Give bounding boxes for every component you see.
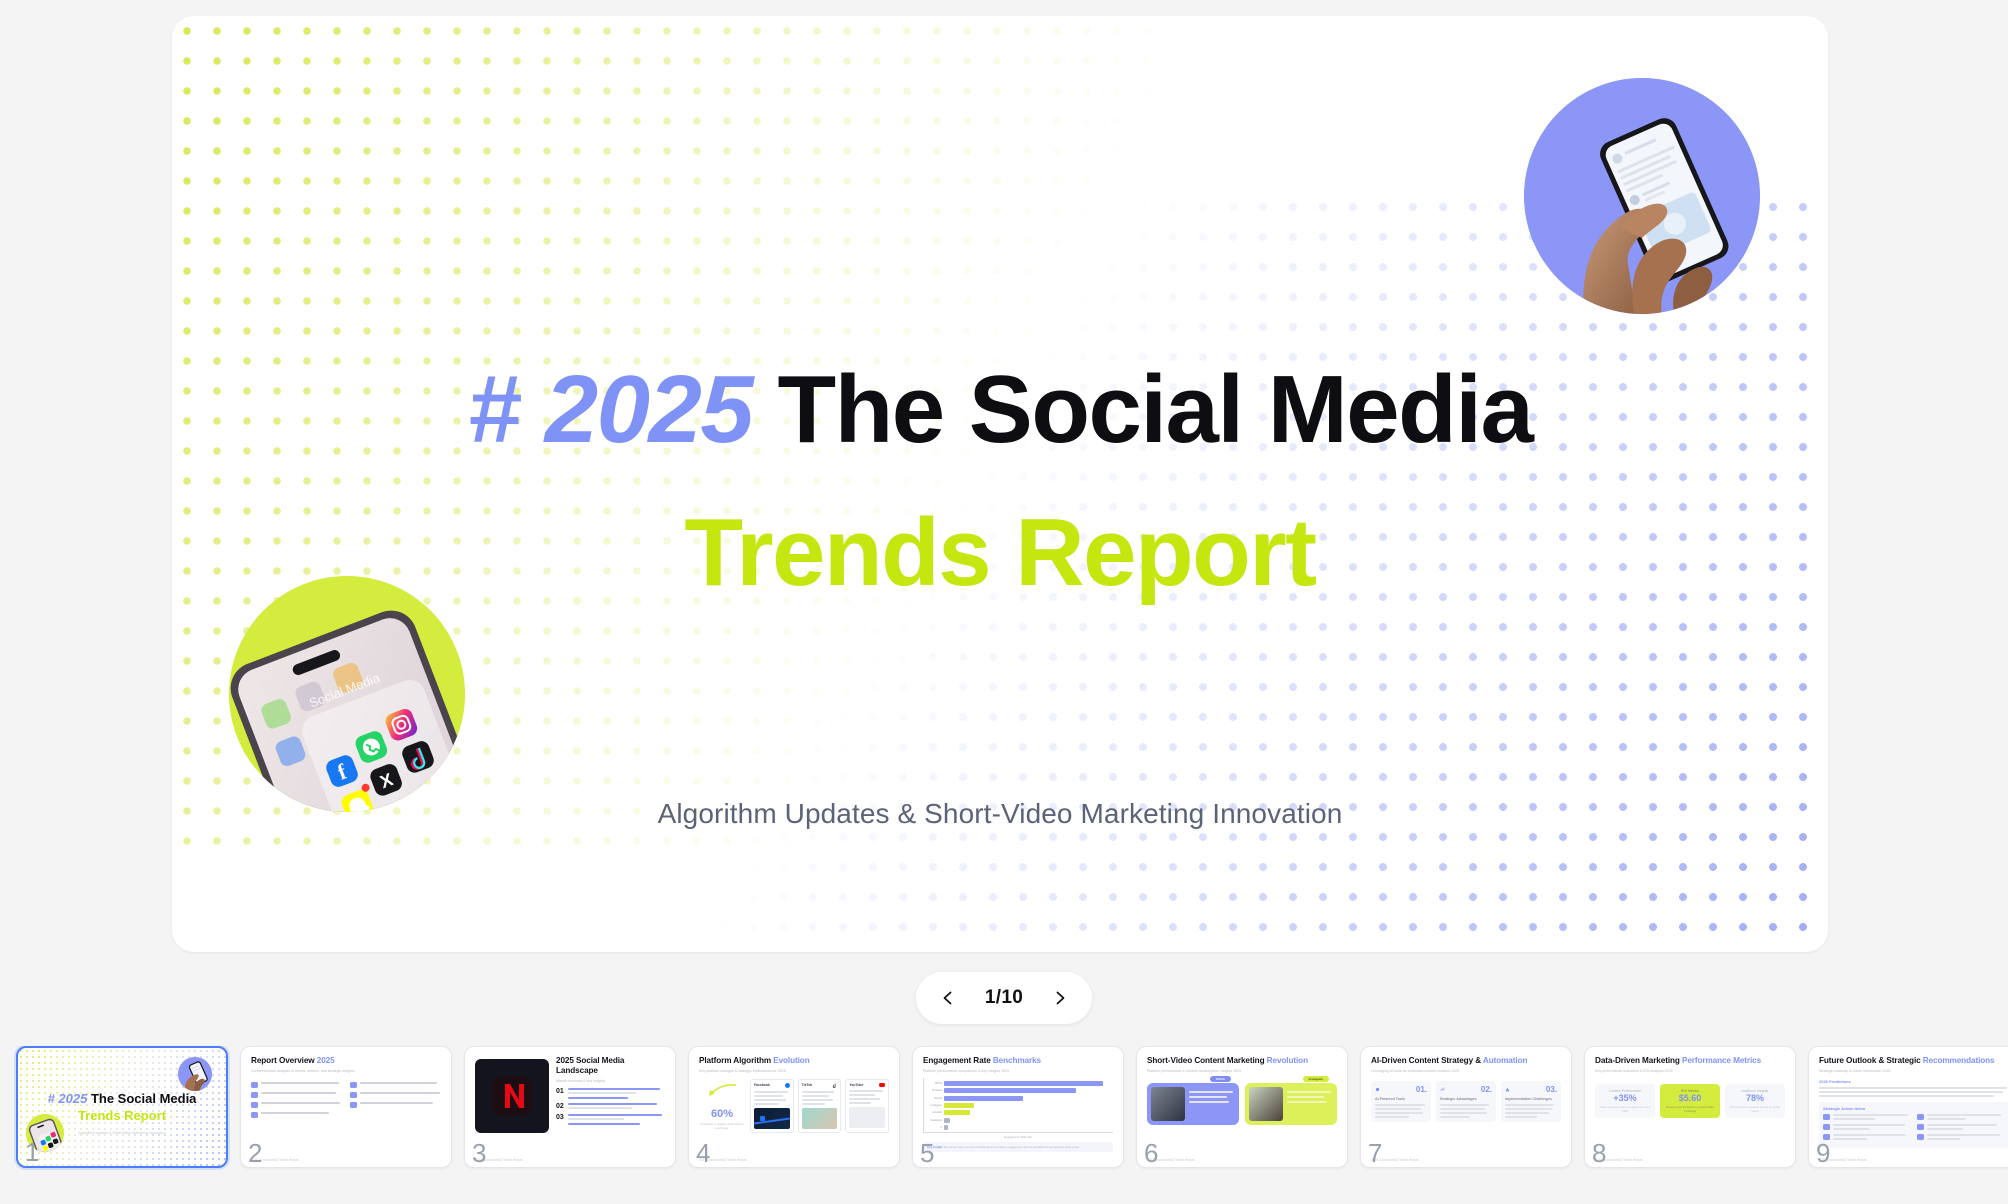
tiktok-panel: TikTok <box>1147 1083 1239 1125</box>
metric-value: +35% <box>1598 1093 1652 1103</box>
ai-card: 03. Implementation Challenges <box>1501 1081 1561 1122</box>
list-item <box>1917 1124 2005 1130</box>
metric-value: 78% <box>1728 1093 1782 1103</box>
thumb8-title-accent: Performance Metrics <box>1682 1056 1761 1065</box>
thumb5-axis-label: Engagement Rate (%) <box>923 1135 1113 1139</box>
bullet-square-icon <box>1823 1114 1830 1120</box>
list-item <box>1917 1114 2005 1120</box>
headline-line-2: Trends Report <box>172 496 1828 609</box>
card-heading: Implementation Challenges <box>1505 1097 1557 1101</box>
metric-card: Audience Insights 78% Of consumers resea… <box>1725 1084 1785 1118</box>
bullet-square-icon <box>350 1092 357 1098</box>
thumbnail-number: 9 <box>1816 1140 1830 1166</box>
thumb3-title: 2025 Social Media <box>556 1056 665 1066</box>
curved-arrow-icon <box>706 1083 738 1099</box>
thumbnail-number: 7 <box>1368 1140 1382 1166</box>
thumb9-content: Future Outlook & Strategic Recommendatio… <box>1809 1047 2008 1167</box>
thumbnail-number: 8 <box>1592 1140 1606 1166</box>
hash-symbol: # <box>468 356 520 463</box>
thumb3-title-plain: 2025 Social Media <box>556 1056 624 1065</box>
thumbnail-number: 5 <box>920 1140 934 1166</box>
platform-card: TikTok <box>798 1079 842 1133</box>
metric-card-highlighted: ROI Metrics $5.60 Revenue per $1 spent o… <box>1660 1084 1720 1118</box>
list-item <box>251 1092 342 1098</box>
hand-phone-icon <box>178 1057 212 1091</box>
thumb1-title-line1: # 2025 The Social Media <box>18 1091 226 1106</box>
metric-card: Content Performance +35% Video content c… <box>1595 1084 1655 1118</box>
thumbnail-strip[interactable]: # 2025 The Social Media Trends Report Al… <box>0 1046 2008 1180</box>
thumb5-title: Engagement Rate Benchmarks <box>923 1056 1113 1066</box>
thumb6-title: Short-Video Content Marketing Revolution <box>1147 1056 1337 1066</box>
thumb4-subtitle: Key platform changes & strategic implica… <box>699 1069 889 1073</box>
list-item <box>350 1102 441 1108</box>
list-item <box>1823 1114 1911 1120</box>
platform-card: Facebook <box>750 1079 794 1133</box>
bullet-square-icon <box>1917 1114 1924 1120</box>
thumb4-title-accent: Evolution <box>773 1056 809 1065</box>
metric-desc: Revenue per $1 spent on social media mar… <box>1663 1105 1717 1113</box>
thumbnail-number: 1 <box>25 1139 39 1165</box>
thumbnail-number: 6 <box>1144 1140 1158 1166</box>
thumbnail-slide-8[interactable]: Data-Driven Marketing Performance Metric… <box>1584 1046 1796 1168</box>
thumbnail-slide-4[interactable]: Platform Algorithm Evolution Key platfor… <box>688 1046 900 1168</box>
thumbnail-number: 4 <box>696 1140 710 1166</box>
instagram-panel: Instagram <box>1245 1083 1337 1125</box>
thumb8-subtitle: Key performance indicators & ROI analysi… <box>1595 1069 1785 1073</box>
list-item <box>251 1102 342 1108</box>
thumbnail-slide-1[interactable]: # 2025 The Social Media Trends Report Al… <box>16 1046 228 1168</box>
thumb5-content: Engagement Rate Benchmarks Platform perf… <box>913 1047 1123 1167</box>
thumb9-subtitle: Strategic roadmap & future introduction … <box>1819 1069 2008 1073</box>
thumb1-hand-phone-circle <box>178 1057 212 1091</box>
thumb6-title-plain: Short-Video Content Marketing <box>1147 1056 1267 1065</box>
thumb9-title: Future Outlook & Strategic Recommendatio… <box>1819 1056 2008 1066</box>
thumb5-note-body: Short-form video content consistently dr… <box>944 1145 1080 1149</box>
slide-pager: 1/10 <box>916 972 1092 1024</box>
bullet-square-icon <box>350 1102 357 1108</box>
thumb8-title-plain: Data-Driven Marketing <box>1595 1056 1682 1065</box>
hand-phone-illustration <box>1524 78 1760 314</box>
thumb7-title-accent: Automation <box>1483 1056 1527 1065</box>
card-number: 03. <box>1546 1085 1557 1094</box>
list-item <box>251 1112 342 1118</box>
youtube-icon <box>879 1083 885 1087</box>
thumb9-section-1: 2026 Predictions <box>1819 1079 2008 1084</box>
thumbnail-slide-7[interactable]: AI-Driven Content Strategy & Automation … <box>1360 1046 1572 1168</box>
thumb2-title: Report Overview 2025 <box>251 1056 441 1066</box>
phone-social-apps-photo: Social Media f X <box>229 576 465 812</box>
step-number: 01 <box>556 1088 564 1099</box>
ai-card: 02. Strategic Advantages <box>1436 1081 1496 1122</box>
warning-triangle-icon <box>1505 1087 1510 1092</box>
bullet-square-icon <box>251 1112 258 1118</box>
tiktok-tag: TikTok <box>1210 1076 1231 1082</box>
thumbnail-slide-3[interactable]: 2025 Social Media Landscape Market overv… <box>464 1046 676 1168</box>
thumb6-title-accent: Revolution <box>1267 1056 1308 1065</box>
platform-name: TikTok <box>802 1083 813 1087</box>
hand-holding-phone-photo <box>1524 78 1760 314</box>
bullet-square-icon <box>1917 1134 1924 1140</box>
thumb5-subtitle: Platform performance comparison & key in… <box>923 1069 1113 1073</box>
thumb2-content: Report Overview 2025 Comprehensive analy… <box>241 1047 451 1167</box>
thumb8-title: Data-Driven Marketing Performance Metric… <box>1595 1056 1785 1066</box>
list-item <box>350 1092 441 1098</box>
netflix-app-image <box>475 1059 549 1133</box>
prev-slide-button[interactable] <box>934 984 962 1012</box>
thumb5-title-plain: Engagement Rate <box>923 1056 993 1065</box>
card-heading: Strategic Advantages <box>1440 1097 1492 1101</box>
headline-line-1: # 2025 The Social Media <box>172 356 1828 464</box>
slide-canvas: Social Media f X <box>172 16 1828 952</box>
chart-icon <box>1440 1087 1445 1092</box>
platform-name: YouTube <box>849 1083 863 1087</box>
next-slide-button[interactable] <box>1046 984 1074 1012</box>
thumb4-stat-caption: Reduction in organic reach without paid … <box>699 1122 745 1131</box>
thumb6-content: Short-Video Content Marketing Revolution… <box>1137 1047 1347 1167</box>
bullet-square-icon <box>251 1092 258 1098</box>
step-number: 03 <box>556 1114 564 1125</box>
thumb9-title-plain: Future Outlook & Strategic <box>1819 1056 1923 1065</box>
bullet-square-icon <box>251 1082 258 1088</box>
thumbnail-slide-5[interactable]: Engagement Rate Benchmarks Platform perf… <box>912 1046 1124 1168</box>
bullet-square-icon <box>350 1082 357 1088</box>
thumbnail-number: 2 <box>248 1140 262 1166</box>
thumbnail-slide-6[interactable]: Short-Video Content Marketing Revolution… <box>1136 1046 1348 1168</box>
slide-subtitle: Algorithm Updates & Short-Video Marketin… <box>172 798 1828 830</box>
card-number: 01. <box>1416 1085 1427 1094</box>
metric-desc: Video content creates engagement over st… <box>1598 1105 1652 1113</box>
thumb4-title-plain: Platform Algorithm <box>699 1056 773 1065</box>
page-indicator: 1/10 <box>985 987 1023 1009</box>
thumbnail-slide-2[interactable]: Report Overview 2025 Comprehensive analy… <box>240 1046 452 1168</box>
card-number: 02. <box>1481 1085 1492 1094</box>
thumb2-title-plain: Report Overview <box>251 1056 317 1065</box>
thumb7-content: AI-Driven Content Strategy & Automation … <box>1361 1047 1571 1167</box>
list-item <box>350 1082 441 1088</box>
thumb1-subtitle: Algorithm Updates & Short-Video Marketin… <box>18 1131 226 1135</box>
card-heading: AI-Powered Tools <box>1375 1097 1427 1101</box>
list-item <box>1823 1134 1911 1140</box>
tiktok-icon <box>832 1083 837 1088</box>
headline-main: The Social Media <box>777 356 1532 463</box>
thumb8-content: Data-Driven Marketing Performance Metric… <box>1585 1047 1795 1167</box>
thumbnail-slide-9[interactable]: Future Outlook & Strategic Recommendatio… <box>1808 1046 2008 1168</box>
ai-card: 01. AI-Powered Tools <box>1371 1081 1431 1122</box>
social-apps-phone-illustration: Social Media f X <box>229 576 465 812</box>
step-number: 02 <box>556 1103 564 1110</box>
instagram-tag: Instagram <box>1303 1076 1329 1082</box>
thumb4-title: Platform Algorithm Evolution <box>699 1056 889 1066</box>
bullet-square-icon <box>1917 1124 1924 1130</box>
bullet-square-icon <box>251 1102 258 1108</box>
thumb7-title-plain: AI-Driven Content Strategy & <box>1371 1056 1483 1065</box>
thumb5-insight-note: Key Insight: Short-form video content co… <box>923 1142 1113 1152</box>
headline-year: 2025 <box>545 356 753 463</box>
chevron-right-icon <box>1052 990 1068 1006</box>
thumb7-title: AI-Driven Content Strategy & Automation <box>1371 1056 1561 1066</box>
thumb5-title-accent: Benchmarks <box>993 1056 1041 1065</box>
thumb2-title-accent: 2025 <box>317 1056 335 1065</box>
metric-desc: Of consumers research brands on social m… <box>1728 1105 1782 1113</box>
thumb1-year: # 2025 <box>48 1091 88 1106</box>
thumb7-subtitle: Leveraging AI tools for enhanced content… <box>1371 1069 1561 1073</box>
thumb1-title-line2: Trends Report <box>18 1108 226 1123</box>
metric-value: $5.60 <box>1663 1093 1717 1103</box>
bullet-square-icon <box>1823 1124 1830 1130</box>
platform-name: Facebook <box>754 1083 770 1087</box>
thumb9-section-2: Strategic Action Items <box>1823 1106 2005 1111</box>
sparkle-icon <box>1375 1087 1380 1092</box>
thumb3-subtitle: Market overview & key insights <box>556 1079 665 1083</box>
thumb3-title-accent: Landscape <box>556 1066 665 1076</box>
thumb4-stat: 60% <box>699 1108 745 1120</box>
thumb4-content: Platform Algorithm Evolution Key platfor… <box>689 1047 899 1167</box>
thumbnail-number: 3 <box>472 1140 486 1166</box>
thumb2-subtitle: Comprehensive analysis of trends, metric… <box>251 1069 441 1073</box>
chevron-left-icon <box>940 990 956 1006</box>
list-item <box>1823 1124 1911 1130</box>
netflix-logo-icon <box>490 1074 534 1118</box>
platform-card: YouTube <box>845 1079 889 1133</box>
thumb3-content: 2025 Social Media Landscape Market overv… <box>465 1047 675 1167</box>
thumb9-title-accent: Recommendations <box>1923 1056 1995 1065</box>
list-item <box>1917 1134 2005 1140</box>
facebook-icon <box>785 1083 790 1088</box>
engagement-bar-chart: TikTok IG Reels Shorts Instagram LinkedI… <box>923 1078 1113 1133</box>
headline-block: # 2025 The Social Media Trends Report <box>172 356 1828 609</box>
list-item <box>251 1082 342 1088</box>
thumb6-subtitle: Platform performance & content consumpti… <box>1147 1069 1337 1073</box>
